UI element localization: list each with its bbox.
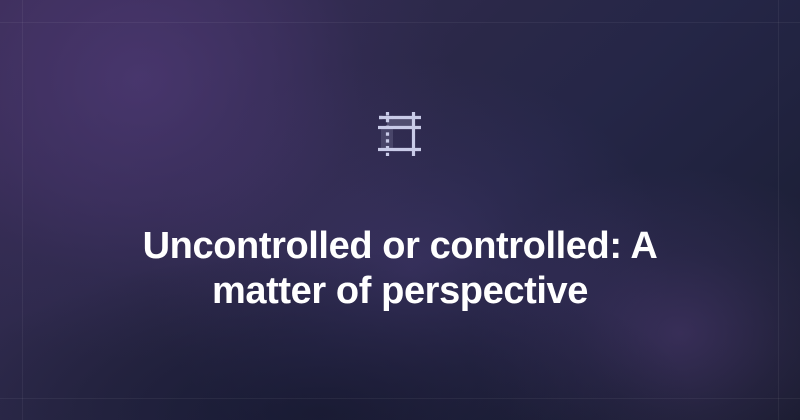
page-title-line-1: Uncontrolled or controlled: A <box>143 224 658 269</box>
page-title-line-2: matter of perspective <box>143 269 658 314</box>
banner-content: Uncontrolled or controlled: A matter of … <box>0 0 800 420</box>
crop-frame-icon <box>373 108 427 162</box>
title-banner: Uncontrolled or controlled: A matter of … <box>0 0 800 420</box>
page-title: Uncontrolled or controlled: A matter of … <box>73 224 728 314</box>
